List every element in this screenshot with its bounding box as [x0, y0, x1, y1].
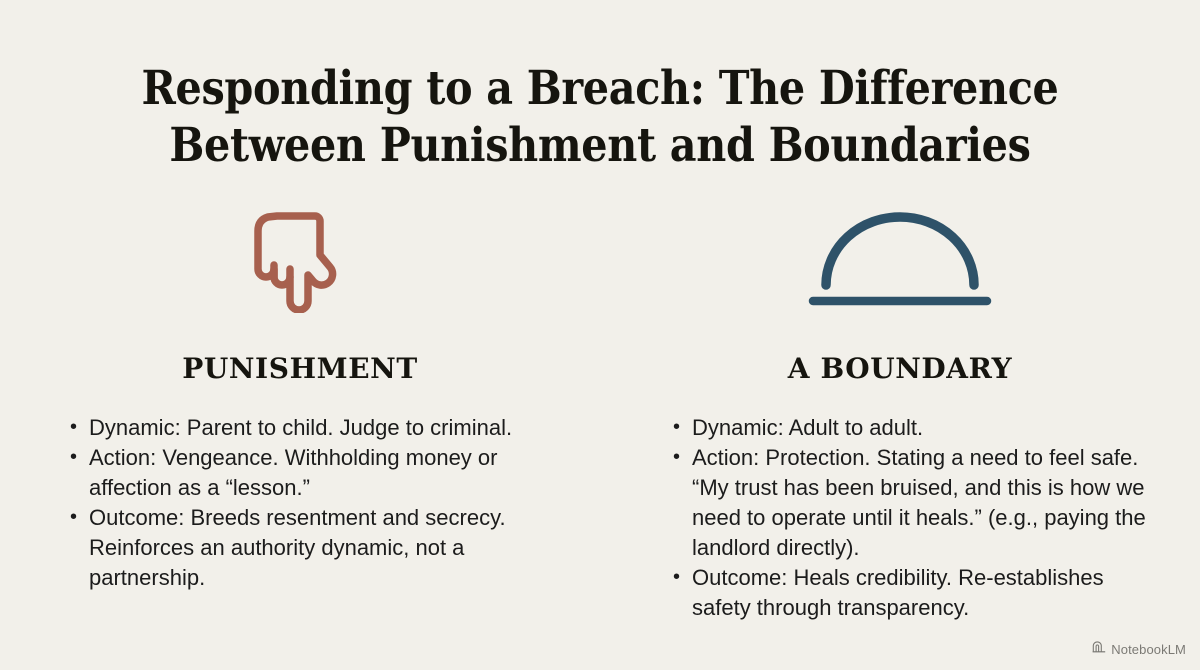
boundary-bullet-list: Dynamic: Adult to adult. Action: Protect… — [671, 413, 1153, 623]
punishment-bullet-list: Dynamic: Parent to child. Judge to crimi… — [68, 413, 538, 593]
pointing-down-hand-icon — [252, 207, 348, 318]
page-title-line-2: Between Punishment and Boundaries — [72, 117, 1128, 174]
boundary-icon-wrap — [808, 200, 992, 320]
list-item: Outcome: Breeds resentment and secrecy. … — [68, 503, 538, 593]
page-title-line-1: Responding to a Breach: The Difference — [72, 60, 1128, 117]
page-title: Responding to a Breach: The Difference B… — [0, 60, 1200, 174]
punishment-icon-wrap — [252, 200, 348, 320]
heading-boundary: A BOUNDARY — [788, 352, 1012, 386]
list-item: Action: Protection. Stating a need to fe… — [671, 443, 1153, 563]
list-item: Dynamic: Adult to adult. — [671, 413, 1153, 443]
comparison-columns: PUNISHMENT Dynamic: Parent to child. Jud… — [0, 200, 1200, 623]
notebooklm-logo-icon — [1092, 640, 1106, 658]
column-punishment: PUNISHMENT Dynamic: Parent to child. Jud… — [0, 200, 600, 623]
list-item: Dynamic: Parent to child. Judge to crimi… — [68, 413, 538, 443]
heading-punishment: PUNISHMENT — [182, 352, 418, 386]
slide-canvas: Responding to a Breach: The Difference B… — [0, 0, 1200, 670]
list-item: Outcome: Heals credibility. Re-establish… — [671, 563, 1153, 623]
list-item: Action: Vengeance. Withholding money or … — [68, 443, 538, 503]
notebooklm-watermark: NotebookLM — [1092, 640, 1186, 658]
column-boundary: A BOUNDARY Dynamic: Adult to adult. Acti… — [600, 200, 1200, 623]
dome-over-line-icon — [808, 211, 992, 312]
notebooklm-watermark-label: NotebookLM — [1111, 642, 1186, 657]
